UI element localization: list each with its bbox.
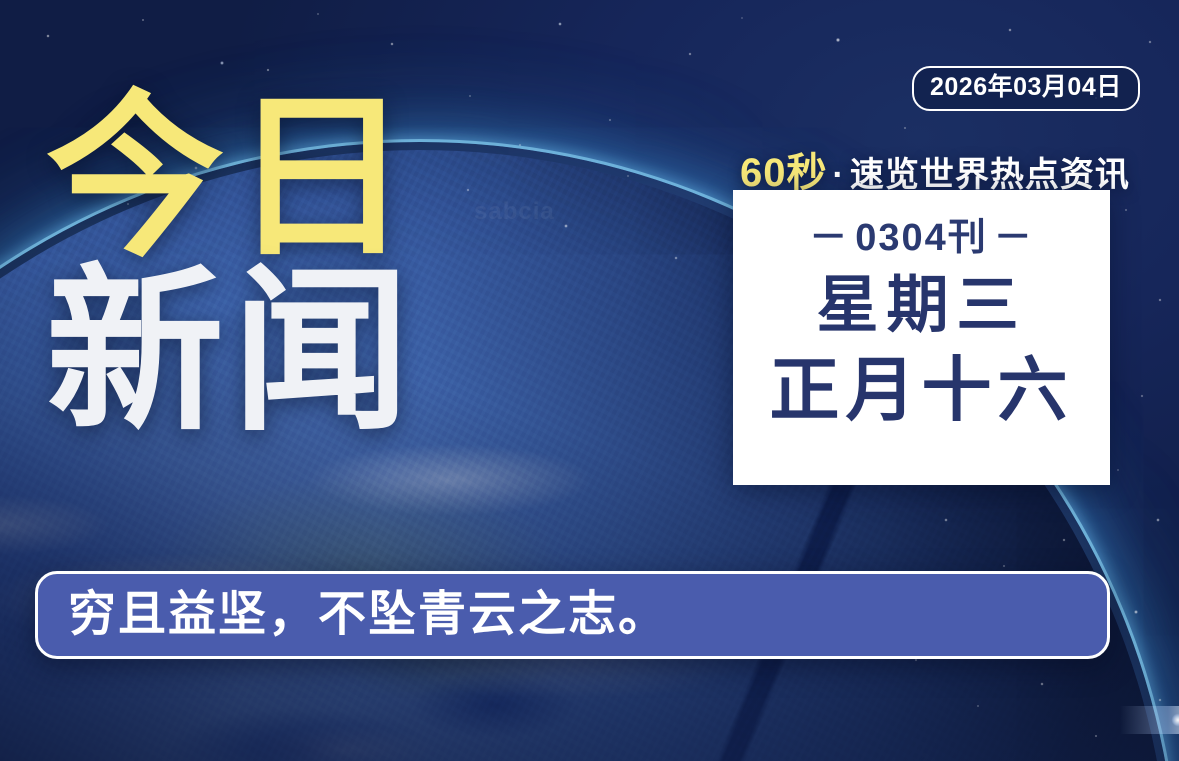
issue-number: 0304刊 [855, 206, 988, 261]
page-title: 今日 新闻 [46, 96, 418, 434]
news-poster: sabcia 2026年03月04日 今日 新闻 60秒·速览世界热点资讯 － … [0, 0, 1179, 761]
date-badge: 2026年03月04日 [912, 66, 1140, 111]
issue-dash-right: － [994, 206, 1034, 261]
weekday-label: 星期三 [816, 275, 1026, 337]
lunar-date-label: 正月十六 [770, 355, 1074, 425]
headline-separator: · [833, 156, 845, 194]
issue-dash-left: － [809, 206, 849, 261]
quote-text: 穷且益坚，不坠青云之志。 [68, 591, 668, 639]
issue-info-card: － 0304刊 － 星期三 正月十六 [733, 190, 1110, 485]
headline-seconds: 60秒 [740, 151, 828, 195]
page-title-line-1: 今日 [46, 96, 418, 260]
page-title-line-2: 新闻 [46, 270, 418, 434]
headline-rest: 速览世界热点资讯 [850, 156, 1130, 194]
quote-banner: 穷且益坚，不坠青云之志。 [35, 571, 1110, 659]
issue-number-row: － 0304刊 － [809, 206, 1034, 261]
